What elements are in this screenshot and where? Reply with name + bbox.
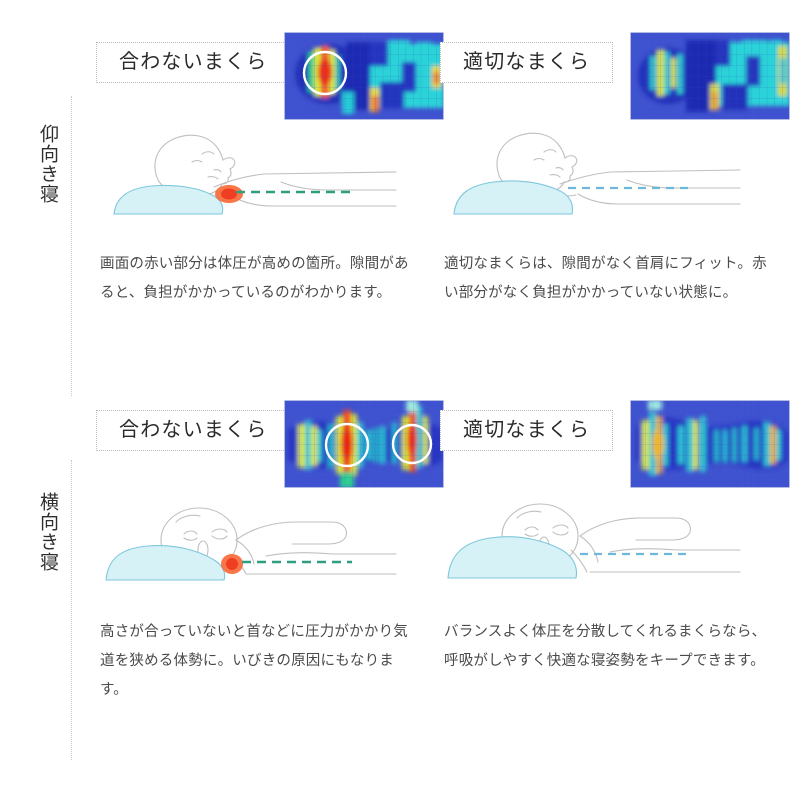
cell-side-good: 適切なまくら: [440, 396, 770, 756]
supine-good-pillow-illustration: [440, 110, 770, 235]
heatmap-side-good: [630, 400, 790, 493]
supine-good-pressure-map: [630, 32, 790, 120]
cell-supine-bad: 合わないまくら: [96, 28, 426, 388]
pressure-hotspot-core: [226, 558, 238, 570]
side-bad-pressure-map: [284, 400, 444, 488]
pillow-shape: [454, 181, 572, 214]
side-good-pressure-map: [630, 400, 790, 488]
side-good-pillow-illustration: [440, 478, 770, 603]
header-side-good: 適切なまくら: [440, 410, 613, 451]
figure-side-bad: [96, 478, 426, 603]
header-side-bad: 合わないまくら: [96, 410, 290, 451]
row-side: 横向き寝 合わないまくら: [0, 396, 800, 756]
cell-side-bad: 合わないまくら: [96, 396, 426, 756]
row-supine: 仰向き寝 合わないまくら: [0, 28, 800, 388]
description-supine-good: 適切なまくらは、隙間がなく首肩にフィット。赤い部分がなく負担がかかっていない状態…: [444, 250, 774, 308]
side-bad-pillow-illustration: [96, 478, 426, 603]
heatmap-supine-bad: [284, 32, 444, 125]
figure-supine-bad: [96, 110, 426, 235]
heatmap-side-bad: [284, 400, 444, 493]
cell-supine-good: 適切なまくら: [440, 28, 770, 388]
pillow-shape: [114, 185, 223, 214]
figure-side-good: [440, 478, 770, 603]
description-supine-bad: 画面の赤い部分は体圧が高めの箇所。隙間があると、負担がかかっているのがわかります…: [100, 250, 416, 308]
description-side-bad: 高さが合っていないと首などに圧力がかかり気道を狭める体勢に。いびきの原因にもなり…: [100, 618, 416, 705]
header-supine-good: 適切なまくら: [440, 42, 613, 83]
description-side-good: バランスよく体圧を分散してくれるまくらなら、呼吸がしやすく快適な寝姿勢をキープで…: [444, 618, 774, 676]
row-label-supine: 仰向き寝: [22, 124, 58, 204]
heatmap-supine-good: [630, 32, 790, 125]
supine-bad-pressure-map: [284, 32, 444, 120]
pillow-shape: [106, 546, 225, 580]
pillow-shape: [448, 537, 576, 578]
pressure-hotspot-core: [221, 189, 237, 200]
supine-bad-pillow-illustration: [96, 110, 426, 235]
header-supine-bad: 合わないまくら: [96, 42, 290, 83]
comparison-infographic: 仰向き寝 合わないまくら: [0, 0, 800, 800]
row-label-side: 横向き寝: [22, 492, 58, 572]
figure-supine-good: [440, 110, 770, 235]
